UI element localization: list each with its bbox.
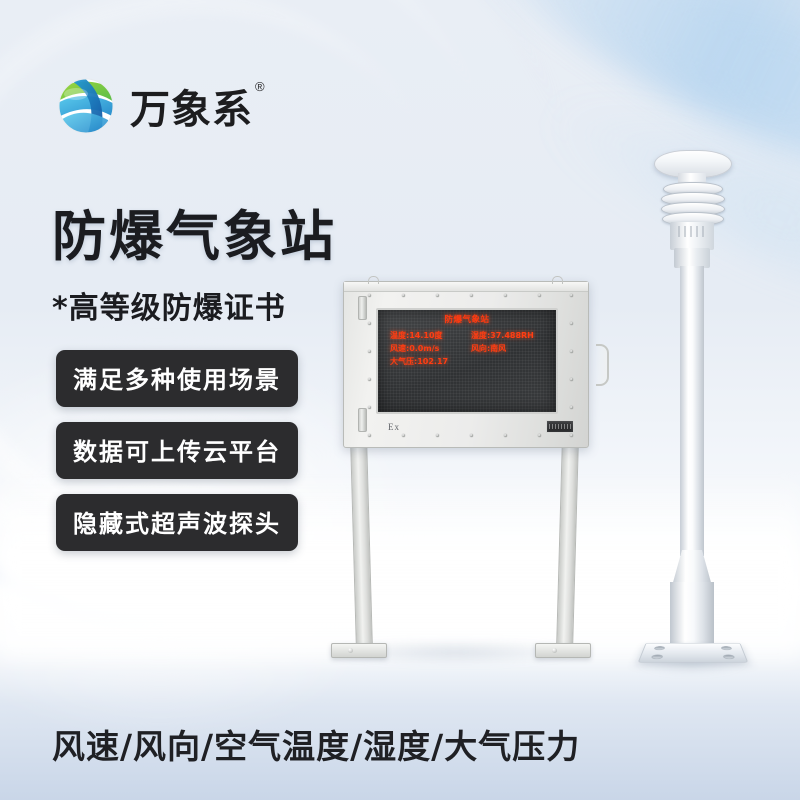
product-nameplate	[546, 420, 574, 433]
pole-taper	[672, 550, 712, 586]
led-reading-empty	[471, 355, 550, 368]
enclosure-cabinet: 防爆气象站 温度:14.10度 湿度:37.488RH 风速:0.0m/s	[343, 281, 589, 448]
led-label-pressure: 大气压	[390, 357, 414, 366]
led-label-humidity: 湿度	[471, 331, 487, 340]
ex-certification-marking: Ex	[388, 422, 400, 432]
page-subtitle: *高等级防爆证书	[52, 283, 286, 327]
enclosure-bolt	[470, 294, 473, 297]
feature-tagline: 风速/风向/空气温度/湿度/大气压力	[52, 720, 580, 768]
led-reading-wind-direction: 风向:南风	[471, 342, 550, 355]
flange-bolt-hole	[721, 646, 733, 650]
feature-pill-2: 数据可上传云平台	[56, 422, 298, 479]
enclosure-bolt	[436, 434, 439, 437]
enclosure-bolt	[570, 406, 573, 409]
ultrasonic-sensor-body	[670, 222, 714, 250]
enclosure-bolt	[570, 294, 573, 297]
enclosure-bolt	[470, 434, 473, 437]
led-screen-title: 防爆气象站	[384, 315, 550, 326]
led-label-wind-speed: 风速	[390, 344, 406, 353]
flange-base-plate	[638, 643, 749, 663]
enclosure-bolt	[402, 294, 405, 297]
led-label-wind-direction: 风向	[471, 344, 487, 353]
brand-name: 万象系	[130, 77, 253, 135]
stand-foot-right	[535, 643, 591, 658]
stand-foot-left	[331, 643, 387, 658]
enclosure-bolt	[504, 434, 507, 437]
led-value-temperature: 14.10度	[409, 331, 442, 340]
enclosure-bolt	[538, 434, 541, 437]
enclosure-bolt	[570, 434, 573, 437]
door-hinge-top	[358, 296, 367, 320]
enclosure-bolt	[538, 294, 541, 297]
enclosure-bolt	[570, 350, 573, 353]
led-reading-wind-speed: 风速:0.0m/s	[384, 342, 471, 355]
explosion-proof-display-unit: 防爆气象站 温度:14.10度 湿度:37.488RH 风速:0.0m/s	[325, 281, 605, 661]
enclosure-bolt	[402, 434, 405, 437]
door-hinge-bottom	[358, 408, 367, 432]
led-value-wind-speed: 0.0m/s	[409, 344, 439, 353]
globe-swirl-logo-icon	[56, 76, 116, 136]
enclosure-bolt	[368, 406, 371, 409]
led-display-screen: 防爆气象站 温度:14.10度 湿度:37.488RH 风速:0.0m/s	[376, 308, 558, 414]
enclosure-bolt	[368, 350, 371, 353]
enclosure-bolt	[368, 322, 371, 325]
brand-logo: 万象系 ®	[56, 76, 265, 136]
stand-leg-left	[350, 441, 373, 647]
pole-base-tube	[670, 582, 714, 644]
led-value-pressure: 102.17	[417, 357, 448, 366]
led-reading-row: 风速:0.0m/s 风向:南风	[384, 342, 550, 355]
enclosure-bolt	[368, 294, 371, 297]
enclosure-bolt	[368, 434, 371, 437]
enclosure-bolt	[436, 294, 439, 297]
door-handle	[596, 344, 609, 386]
product-poster: 万象系 ® 防爆气象站 *高等级防爆证书 满足多种使用场景 数据可上传云平台 隐…	[0, 0, 800, 800]
led-reading-humidity: 湿度:37.488RH	[471, 329, 550, 342]
enclosure-bolt	[368, 378, 371, 381]
feature-pill-3: 隐藏式超声波探头	[56, 494, 298, 551]
lifting-lug-left	[368, 276, 379, 284]
weather-sensor-mast	[630, 150, 760, 670]
trademark-symbol: ®	[255, 79, 265, 94]
flange-bolt-hole	[654, 646, 666, 650]
led-value-wind-direction: 南风	[490, 344, 506, 353]
led-readings: 温度:14.10度 湿度:37.488RH 风速:0.0m/s 风向:南风	[384, 329, 550, 368]
sensor-mount-collar	[674, 248, 710, 268]
brand-wordmark: 万象系 ®	[130, 77, 265, 135]
led-value-humidity: 37.488RH	[490, 331, 534, 340]
page-title: 防爆气象站	[52, 192, 337, 271]
led-reading-row: 大气压:102.17	[384, 355, 550, 368]
enclosure-bolt	[504, 294, 507, 297]
led-reading-row: 温度:14.10度 湿度:37.488RH	[384, 329, 550, 342]
stand-leg-right	[556, 441, 579, 647]
mounting-pole	[680, 266, 704, 556]
enclosure-bolt	[570, 378, 573, 381]
led-reading-pressure: 大气压:102.17	[384, 355, 471, 368]
led-reading-temperature: 温度:14.10度	[384, 329, 471, 342]
flange-bolt-hole	[651, 655, 664, 660]
feature-pill-1: 满足多种使用场景	[56, 350, 298, 407]
enclosure-bolt	[570, 322, 573, 325]
flange-bolt-hole	[723, 655, 736, 660]
lifting-lug-right	[552, 276, 563, 284]
led-label-temperature: 温度	[390, 331, 406, 340]
